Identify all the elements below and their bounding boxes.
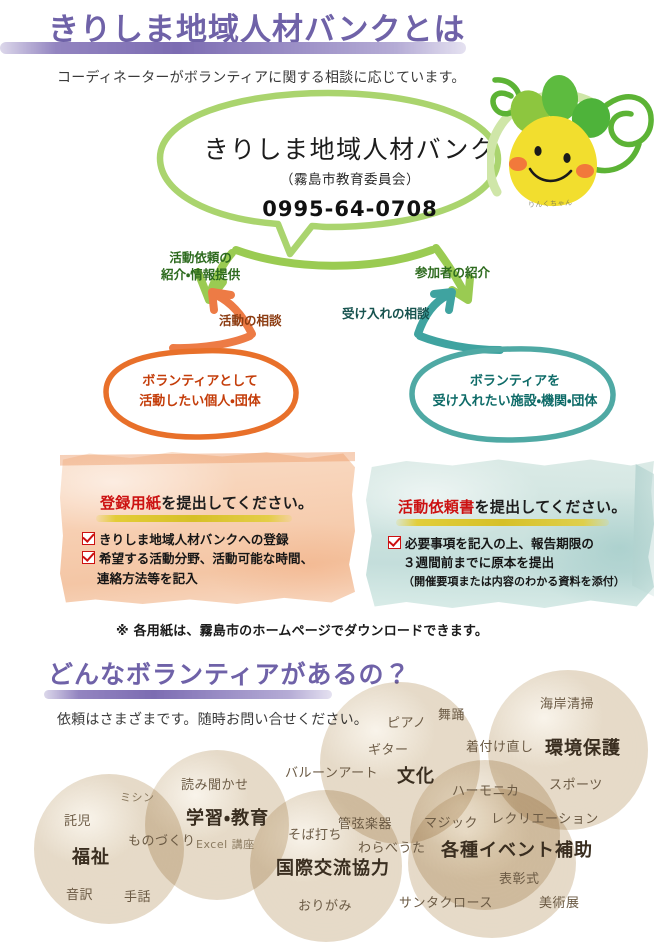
- tag-cloud-item: 表彰式: [499, 868, 540, 887]
- tag-cloud-item: 海岸清掃: [540, 693, 594, 712]
- circle-label-host-line1: ボランティアを: [420, 372, 610, 392]
- tag-cloud-item: 学習・教育: [186, 804, 269, 830]
- tag-cloud-item: わらべうた: [358, 837, 426, 856]
- tag-cloud-item: 管弦楽器: [338, 813, 392, 832]
- paper-request-heading: 活動依頼書を提出してください。: [398, 496, 627, 517]
- tag-cloud-item: 福祉: [72, 843, 110, 869]
- tag-cloud-item: 環境保護: [545, 734, 621, 760]
- tag-cloud-item: 各種イベント補助: [441, 836, 593, 862]
- tag-cloud-item: 文化: [397, 762, 435, 788]
- list-item: きりしま地域人材バンクへの登録: [82, 530, 313, 549]
- checkbox-checked-icon: [82, 551, 95, 564]
- tag-cloud-item: 着付け直し: [466, 736, 534, 755]
- list-item-continuation: 連絡方法等を記入: [82, 569, 313, 588]
- checkbox-checked-icon: [82, 532, 95, 545]
- tag-cloud-item: ピアノ: [387, 712, 426, 731]
- paper-registration-bullets: きりしま地域人材バンクへの登録 希望する活動分野、活動可能な時間、 連絡方法等を…: [82, 530, 313, 588]
- paper-registration: 登録用紙を提出してください。 きりしま地域人材バンクへの登録 希望する活動分野、…: [60, 452, 355, 604]
- list-item-text: 必要事項を記入の上、報告期限の: [405, 534, 594, 553]
- tag-cloud-item: おりがみ: [298, 895, 352, 914]
- paper-registration-heading: 登録用紙を提出してください。: [100, 492, 313, 513]
- tag-cloud-item: Excel 講座: [196, 836, 255, 852]
- paper-request-heading-rest: を提出してください。: [475, 498, 627, 516]
- tag-cloud-item: レクリエーション: [491, 808, 599, 827]
- tag-cloud-item: バルーンアート: [285, 762, 378, 781]
- tag-cloud-item: ハーモニカ: [452, 780, 520, 799]
- tag-cloud-item: 読み聞かせ: [181, 774, 249, 793]
- circle-label-volunteer: ボランティアとして 活動したい個人・団体: [120, 372, 280, 411]
- paper-request: 活動依頼書を提出してください。 必要事項を記入の上、報告期限の ３週間前までに原…: [366, 458, 654, 608]
- volunteer-tag-cloud: 福祉託児ミシンものづくり音訳手話学習・教育読み聞かせExcel 講座国際交流協力…: [0, 670, 660, 943]
- tag-cloud-item: スポーツ: [549, 774, 603, 793]
- tag-cloud-item: 手話: [124, 886, 151, 905]
- tag-cloud-item: マジック: [424, 812, 478, 831]
- checkbox-checked-icon: [388, 536, 401, 549]
- circle-label-host-line2: 受け入れたい施設・機関・団体: [420, 392, 610, 412]
- list-item-note: （開催要項または内容のわかる資料を添付）: [388, 573, 625, 590]
- tag-cloud-item: そば打ち: [288, 824, 342, 843]
- paper-request-bullets: 必要事項を記入の上、報告期限の ３週間前までに原本を提出 （開催要項または内容の…: [388, 534, 625, 590]
- tag-cloud-item: 美術展: [539, 892, 580, 911]
- circle-label-volunteer-line2: 活動したい個人・団体: [120, 392, 280, 412]
- tag-cloud-item: ミシン: [120, 789, 155, 805]
- poster-root: きりしま地域人材バンクとは コーディネーターがボランティアに関する相談に応じてい…: [0, 0, 660, 943]
- list-item-text: きりしま地域人材バンクへの登録: [99, 530, 289, 549]
- tag-cloud-item: 託児: [64, 810, 91, 829]
- list-item: 希望する活動分野、活動可能な時間、: [82, 549, 313, 568]
- download-note: ※ 各用紙は、霧島市のホームページでダウンロードできます。: [116, 620, 488, 639]
- circle-label-volunteer-line1: ボランティアとして: [120, 372, 280, 392]
- paper-registration-heading-rest: を提出してください。: [161, 494, 313, 512]
- tag-cloud-item: ギター: [368, 739, 409, 758]
- tag-cloud-item: 国際交流協力: [276, 854, 390, 880]
- paper-request-highlight: [396, 519, 609, 526]
- list-item-continuation: ３週間前までに原本を提出: [388, 553, 625, 572]
- tag-cloud-item: ものづくり: [128, 830, 196, 849]
- list-item-text: 希望する活動分野、活動可能な時間、: [99, 549, 313, 568]
- tag-cloud-item: サンタクロース: [399, 892, 493, 911]
- paper-registration-heading-emph: 登録用紙: [100, 494, 161, 512]
- list-item: 必要事項を記入の上、報告期限の: [388, 534, 625, 553]
- paper-registration-highlight: [96, 515, 292, 522]
- tag-cloud-item: 舞踊: [438, 704, 465, 723]
- tag-cloud-item: 音訳: [66, 884, 93, 903]
- circle-label-host: ボランティアを 受け入れたい施設・機関・団体: [420, 372, 610, 411]
- paper-request-heading-emph: 活動依頼書: [398, 498, 475, 516]
